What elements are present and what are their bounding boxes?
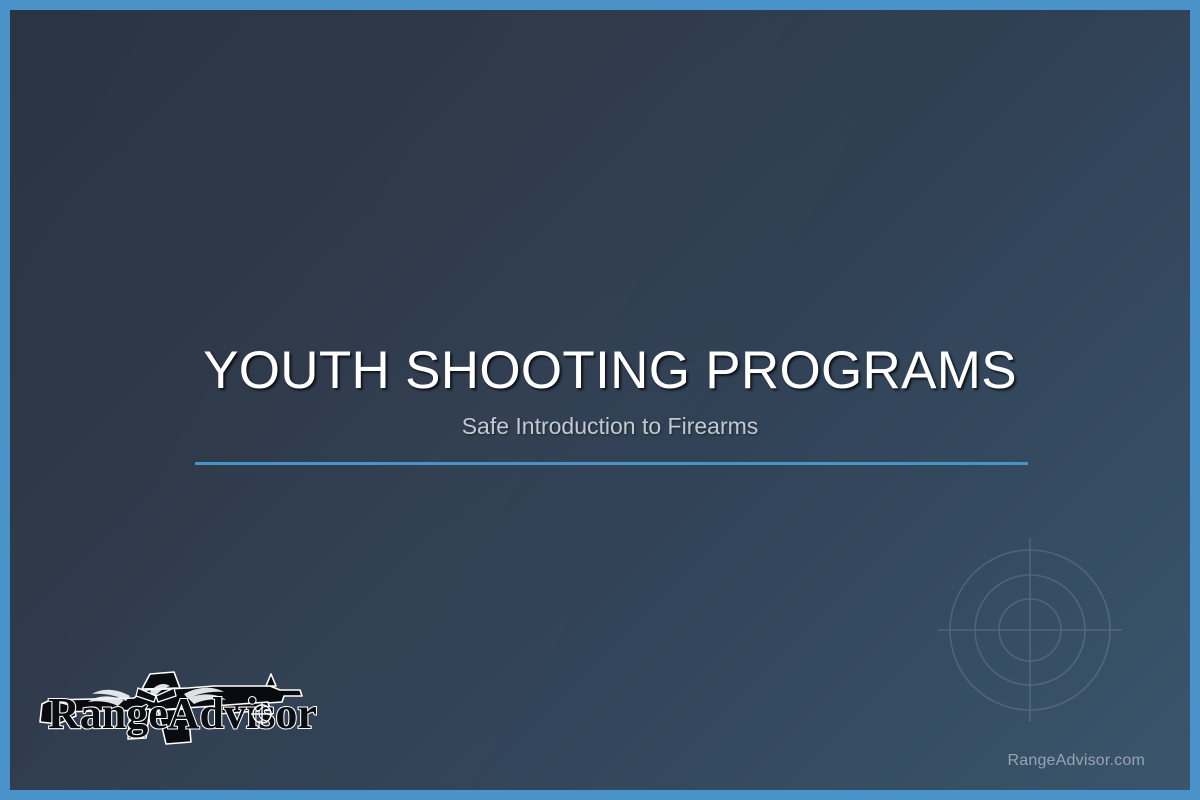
logo-wordmark: RangeAdvisor xyxy=(48,689,317,738)
target-crosshair-icon xyxy=(930,530,1130,730)
page-subtitle: Safe Introduction to Firearms xyxy=(10,412,1200,440)
footer-url: RangeAdvisor.com xyxy=(1008,752,1146,770)
page-title: YOUTH SHOOTING PROGRAMS xyxy=(10,340,1200,402)
title-divider xyxy=(195,462,1028,465)
brand-logo: RangeAdvisor xyxy=(38,666,320,758)
title-block: YOUTH SHOOTING PROGRAMS Safe Introductio… xyxy=(10,340,1200,440)
presentation-slide: YOUTH SHOOTING PROGRAMS Safe Introductio… xyxy=(0,0,1200,800)
